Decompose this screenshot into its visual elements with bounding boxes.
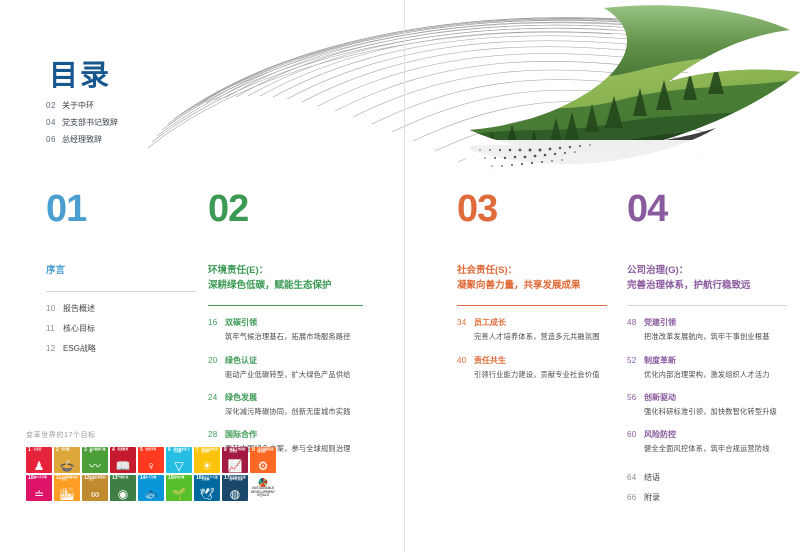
- section-title: 社会责任(S)： 凝聚向善力量，共享发展成果: [457, 264, 607, 293]
- sdg-goal-number: 1: [28, 448, 31, 453]
- sdg-goal-title: 优质教育: [118, 449, 136, 452]
- entry-label: 责任共生: [474, 355, 506, 366]
- section-rule: [208, 305, 363, 306]
- sdg-goal-15-icon[interactable]: 15陆地生物🌱: [166, 475, 192, 501]
- front-matter-row[interactable]: 04 党支部书记致辞: [46, 117, 206, 128]
- entry-label: 制度革新: [644, 355, 676, 366]
- sdg-goal-glyph-icon: ◍: [222, 488, 248, 500]
- toc-entry[interactable]: 66 附录: [627, 492, 787, 503]
- sdg-caption: 变革世界的17个目标: [26, 430, 284, 440]
- section-rule: [627, 305, 787, 306]
- sdg-goal-9-icon[interactable]: 9产业创新和基础设施⚙: [250, 447, 276, 473]
- entry-label: 党建引领: [644, 317, 676, 328]
- sdg-goal-glyph-icon: 〰: [82, 460, 108, 472]
- entry-description: 筑牢气候治理基石，拓展市场服务路径: [225, 332, 363, 342]
- entry-description: 强化科研标准引领，加快数智化转型升级: [644, 407, 787, 417]
- sdg-goal-14-icon[interactable]: 14水下生物🐟: [138, 475, 164, 501]
- section-number: 04: [627, 190, 787, 228]
- front-matter-page-number: 02: [46, 101, 62, 110]
- entry-page-number: 64: [627, 473, 644, 482]
- section-title-line2: 完善治理体系，护航行稳致远: [627, 279, 787, 294]
- section-number: 02: [208, 190, 363, 228]
- entry-label: 员工成长: [474, 317, 506, 328]
- section-items: 48 党建引领 把准改革发展航向，筑牢干事创业根基 52 制度革新 优化内部治理…: [627, 317, 787, 502]
- sdg-goal-glyph-icon: ◉: [110, 488, 136, 500]
- sdg-goal-5-icon[interactable]: 5性别平等♀: [138, 447, 164, 473]
- entry-description: 引领行业能力建设，贡献专业社会价值: [474, 370, 607, 380]
- entry-label: 双碳引领: [225, 317, 257, 328]
- toc-page: 目录 02 关于中环 04 党支部书记致辞 06 总经理致辞 01 序言 10 …: [0, 0, 808, 552]
- sdg-goal-title: 气候行动: [118, 477, 136, 480]
- sdg-goal-glyph-icon: ≐: [26, 488, 52, 500]
- entry-page-number: 24: [208, 393, 225, 402]
- sdg-goal-16-icon[interactable]: 16和平正义与强大机构🕊: [194, 475, 220, 501]
- entry-page-number: 66: [627, 493, 644, 502]
- sdg-goal-4-icon[interactable]: 4优质教育📖: [110, 447, 136, 473]
- sdg-goal-1-icon[interactable]: 1无贫穷♟: [26, 447, 52, 473]
- sdg-goal-title: 产业创新和基础设施: [258, 449, 276, 455]
- sdg-goal-glyph-icon: 📖: [110, 460, 136, 472]
- entry-page-number: 10: [46, 304, 63, 313]
- front-matter-row[interactable]: 06 总经理致辞: [46, 134, 206, 145]
- entry-description: 驱动产业低碳转型，扩大绿色产品供给: [225, 370, 363, 380]
- sdg-goal-title: 和平正义与强大机构: [202, 477, 220, 483]
- sdg-goal-number: 2: [56, 448, 59, 453]
- toc-entry[interactable]: 16 双碳引领 筑牢气候治理基石，拓展市场服务路径: [208, 317, 363, 342]
- section-rule: [457, 305, 607, 306]
- sdg-goal-10-icon[interactable]: 10减少不平等≐: [26, 475, 52, 501]
- section-column-03: 03 社会责任(S)： 凝聚向善力量，共享发展成果 34 员工成长 完善人才培养…: [457, 190, 607, 392]
- sdg-goal-glyph-icon: 🕊: [194, 488, 220, 500]
- sdg-wheel-logo[interactable]: SUSTAINABLE DEVELOPMENT G⦿ALS: [250, 475, 276, 501]
- sdg-icon-grid: 1无贫穷♟2零饥饿🍲3良好健康与福祉〰4优质教育📖5性别平等♀6清洁饮水和卫生设…: [26, 447, 284, 501]
- sdg-goal-12-icon[interactable]: 12负责任消费和生产∞: [82, 475, 108, 501]
- sdg-goal-title: 清洁饮水和卫生设施: [174, 449, 192, 455]
- entry-page-number: 11: [46, 324, 63, 333]
- sdg-goal-17-icon[interactable]: 17促进目标实现的伙伴关系◍: [222, 475, 248, 501]
- entry-page-number: 48: [627, 318, 644, 327]
- entry-page-number: 34: [457, 318, 474, 327]
- sdg-goal-title: 零饥饿: [62, 449, 80, 452]
- sdg-goal-glyph-icon: ☀: [194, 460, 220, 472]
- sdg-goal-glyph-icon: 🌱: [166, 488, 192, 500]
- entry-label: 风险防控: [644, 429, 676, 440]
- page-spine-divider: [404, 0, 405, 552]
- entry-description: 健全全面风控体系，筑牢合规运营防线: [644, 444, 787, 454]
- entry-label: ESG战略: [63, 343, 96, 354]
- sdg-goal-glyph-icon: ♀: [138, 460, 164, 472]
- front-matter-label: 关于中环: [62, 100, 94, 111]
- entry-description: 把准改革发展航向，筑牢干事创业根基: [644, 332, 787, 342]
- sdg-goal-number: 6: [168, 448, 171, 453]
- sdg-wheel-label: SUSTAINABLE DEVELOPMENT G⦿ALS: [250, 487, 276, 498]
- sdg-goal-glyph-icon: ⚙: [250, 460, 276, 472]
- sdg-goal-number: 11: [56, 476, 61, 481]
- sdg-goal-number: 7: [196, 448, 199, 453]
- entry-page-number: 40: [457, 356, 474, 365]
- sdg-goal-title: 减少不平等: [34, 477, 52, 480]
- sdg-goal-glyph-icon: ∞: [82, 488, 108, 500]
- sdg-goal-number: 3: [84, 448, 87, 453]
- sdg-block: 变革世界的17个目标 1无贫穷♟2零饥饿🍲3良好健康与福祉〰4优质教育📖5性别平…: [26, 430, 284, 501]
- toc-entry[interactable]: 48 党建引领 把准改革发展航向，筑牢干事创业根基: [627, 317, 787, 342]
- toc-entry[interactable]: 64 结语: [627, 472, 787, 483]
- sdg-goal-8-icon[interactable]: 8体面工作和经济增长📈: [222, 447, 248, 473]
- sdg-goal-title: 可持续城市和社区: [62, 477, 80, 483]
- toc-entry[interactable]: 34 员工成长 完善人才培养体系，营造多元共融氛围: [457, 317, 607, 342]
- entry-label: 绿色发展: [225, 392, 257, 403]
- toc-entry[interactable]: 24 绿色发展 深化减污降碳协同，创新无废城市实践: [208, 392, 363, 417]
- front-matter-row[interactable]: 02 关于中环: [46, 100, 206, 111]
- sdg-goal-glyph-icon: ▽: [166, 460, 192, 472]
- sdg-goal-title: 促进目标实现的伙伴关系: [230, 477, 248, 483]
- entry-label: 绿色认证: [225, 355, 257, 366]
- section-title-line1: 公司治理(G)：: [627, 264, 787, 279]
- sdg-goal-2-icon[interactable]: 2零饥饿🍲: [54, 447, 80, 473]
- section-number: 03: [457, 190, 607, 228]
- toc-entry[interactable]: 52 制度革新 优化内部治理架构，激发组织人才活力: [627, 355, 787, 380]
- sdg-goal-title: 经济适用的清洁能源: [202, 449, 220, 455]
- sdg-goal-glyph-icon: 🏙: [54, 488, 80, 500]
- section-items: 34 员工成长 完善人才培养体系，营造多元共融氛围 40 责任共生 引领行业能力…: [457, 317, 607, 379]
- front-matter-list: 02 关于中环 04 党支部书记致辞 06 总经理致辞: [46, 100, 206, 151]
- section-title-line1: 社会责任(S)：: [457, 264, 607, 279]
- section-column-02: 02 环境责任(E)： 深耕绿色低碳，赋能生态保护 16 双碳引领 筑牢气候治理…: [208, 190, 363, 466]
- toc-entry[interactable]: 11 核心目标: [46, 323, 196, 334]
- entry-description: 优化内部治理架构，激发组织人才活力: [644, 370, 787, 380]
- sdg-goal-title: 体面工作和经济增长: [230, 449, 248, 455]
- section-title-line2: 凝聚向善力量，共享发展成果: [457, 279, 607, 294]
- section-plain-items: 10 报告概述 11 核心目标 12 ESG战略: [46, 303, 196, 354]
- forest-photo: [460, 0, 808, 170]
- sdg-goal-number: 8: [224, 448, 227, 453]
- sdg-goal-title: 水下生物: [146, 477, 164, 480]
- sdg-goal-glyph-icon: 🐟: [138, 488, 164, 500]
- section-title: 环境责任(E)： 深耕绿色低碳，赋能生态保护: [208, 264, 363, 293]
- sdg-goal-glyph-icon: 🍲: [54, 460, 80, 472]
- front-matter-page-number: 04: [46, 118, 62, 127]
- entry-description: 深化减污降碳协同，创新无废城市实践: [225, 407, 363, 417]
- section-title: 公司治理(G)： 完善治理体系，护航行稳致远: [627, 264, 787, 293]
- section-column-01: 01 序言 10 报告概述 11 核心目标 12 ESG战略: [46, 190, 196, 363]
- entry-page-number: 52: [627, 356, 644, 365]
- front-matter-page-number: 06: [46, 135, 62, 144]
- entry-description: 完善人才培养体系，营造多元共融氛围: [474, 332, 607, 342]
- entry-label: 报告概述: [63, 303, 95, 314]
- entry-label: 创新驱动: [644, 392, 676, 403]
- section-title-line1: 环境责任(E)：: [208, 264, 363, 279]
- section-title: 序言: [46, 264, 196, 279]
- sdg-goal-title: 陆地生物: [174, 477, 192, 480]
- section-column-04: 04 公司治理(G)： 完善治理体系，护航行稳致远 48 党建引领 把准改革发展…: [627, 190, 787, 512]
- sdg-goal-6-icon[interactable]: 6清洁饮水和卫生设施▽: [166, 447, 192, 473]
- section-number: 01: [46, 190, 196, 228]
- toc-entry[interactable]: 40 责任共生 引领行业能力建设，贡献专业社会价值: [457, 355, 607, 380]
- toc-entry[interactable]: 60 风险防控 健全全面风控体系，筑牢合规运营防线: [627, 429, 787, 454]
- entry-label: 结语: [644, 472, 660, 483]
- sdg-goal-title: 良好健康与福祉: [90, 449, 108, 455]
- sdg-goal-title: 性别平等: [146, 449, 164, 452]
- front-matter-label: 总经理致辞: [62, 134, 102, 145]
- section-rule: [46, 291, 196, 292]
- front-matter-label: 党支部书记致辞: [62, 117, 118, 128]
- sdg-goal-title: 负责任消费和生产: [90, 477, 108, 483]
- sdg-goal-13-icon[interactable]: 13气候行动◉: [110, 475, 136, 501]
- entry-label: 核心目标: [63, 323, 95, 334]
- entry-page-number: 60: [627, 430, 644, 439]
- sdg-goal-glyph-icon: 📈: [222, 460, 248, 472]
- page-title: 目录: [49, 52, 111, 94]
- entry-page-number: 56: [627, 393, 644, 402]
- sdg-goal-glyph-icon: ♟: [26, 460, 52, 472]
- sdg-goal-title: 无贫穷: [34, 449, 52, 452]
- entry-page-number: 16: [208, 318, 225, 327]
- toc-entry[interactable]: 10 报告概述: [46, 303, 196, 314]
- sdg-goal-3-icon[interactable]: 3良好健康与福祉〰: [82, 447, 108, 473]
- sdg-goal-11-icon[interactable]: 11可持续城市和社区🏙: [54, 475, 80, 501]
- sdg-goal-number: 9: [252, 448, 255, 453]
- section-title-line2: 深耕绿色低碳，赋能生态保护: [208, 279, 363, 294]
- sdg-goal-number: 4: [112, 448, 115, 453]
- sdg-goal-7-icon[interactable]: 7经济适用的清洁能源☀: [194, 447, 220, 473]
- toc-entry[interactable]: 56 创新驱动 强化科研标准引领，加快数智化转型升级: [627, 392, 787, 417]
- toc-entry[interactable]: 20 绿色认证 驱动产业低碳转型，扩大绿色产品供给: [208, 355, 363, 380]
- entry-page-number: 20: [208, 356, 225, 365]
- section-title-line1: 序言: [46, 264, 196, 279]
- toc-entry[interactable]: 12 ESG战略: [46, 343, 196, 354]
- entry-page-number: 12: [46, 344, 63, 353]
- entry-label: 附录: [644, 492, 660, 503]
- sdg-goal-number: 5: [140, 448, 143, 453]
